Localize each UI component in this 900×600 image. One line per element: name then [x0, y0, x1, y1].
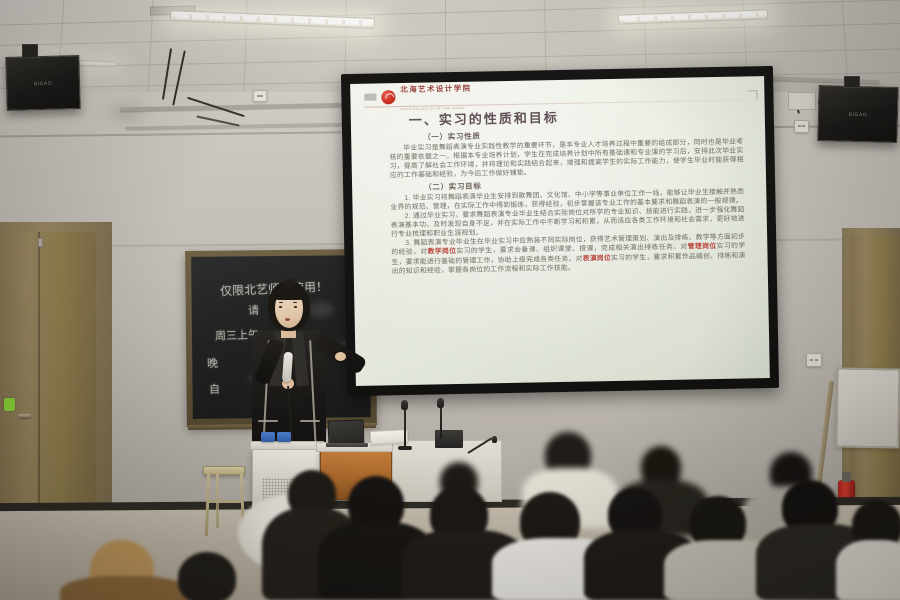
- whiteboard-right: [835, 367, 900, 448]
- door-left-sticker: [4, 398, 15, 411]
- slide-header-chip: [364, 94, 376, 101]
- presenter-pocket-left: [258, 420, 278, 422]
- door-left[interactable]: [0, 232, 96, 522]
- projection-screen: 北海艺术设计学院 BEIHAI COLLEGE OF ART AND DESIG…: [350, 76, 770, 386]
- audience-shoulders-12: [836, 540, 900, 600]
- presentation-slide: 北海艺术设计学院 BEIHAI COLLEGE OF ART AND DESIG…: [350, 76, 770, 386]
- laptop-screen[interactable]: [328, 419, 365, 445]
- blackboard-line-4: 晚: [207, 355, 218, 371]
- speaker-left-label: BIGAO: [34, 81, 52, 87]
- wall-junction-box: [788, 92, 816, 110]
- desk-microphone-head-2: [437, 398, 444, 408]
- wall-outlet-2[interactable]: [794, 120, 809, 133]
- presenter-eye-right: [294, 306, 297, 308]
- blackboard-line-2: 请: [248, 302, 260, 318]
- gooseneck-microphone-head: [492, 436, 497, 443]
- p4-highlight-management-post: 管理岗位: [688, 243, 717, 251]
- presenter-mouth: [285, 318, 290, 321]
- slide-logo-text: 北海艺术设计学院 BEIHAI COLLEGE OF ART AND DESIG…: [400, 77, 472, 114]
- wall-speaker-right: BIGAO: [817, 85, 898, 143]
- wall-speaker-left: BIGAO: [5, 55, 80, 111]
- presenter-hand-right: [335, 352, 346, 361]
- door-left-closer: [38, 238, 43, 247]
- p4-highlight-teaching-post: 教学岗位: [427, 248, 456, 256]
- institution-name-cn: 北海艺术设计学院: [400, 83, 471, 93]
- blackboard-line-5: 自: [209, 381, 220, 397]
- presenter-pocket-right: [300, 420, 320, 422]
- podium-top: [250, 441, 324, 450]
- speaker-right-label: BIGAO: [849, 112, 867, 118]
- desk-microphone-base-1: [398, 446, 412, 450]
- desk-microphone-pole-2: [440, 408, 442, 438]
- desk-microphone-pole-1: [404, 410, 406, 448]
- red-swirl-logo-icon: [381, 90, 395, 104]
- blue-item-2[interactable]: [277, 432, 291, 442]
- stool-crossbar: [206, 500, 244, 503]
- audience-head-14: [178, 552, 236, 600]
- wall-outlet-1[interactable]: [253, 90, 267, 102]
- slide-paragraph-4: 3. 舞蹈表演专业毕业生在毕业实习中应熟装不同实际岗位，获得艺术管理策划、演出及…: [367, 233, 752, 277]
- slide-corner-mark: [748, 90, 757, 99]
- light-switch[interactable]: [806, 353, 822, 367]
- institution-name-en: BEIHAI COLLEGE OF ART AND DESIGN: [401, 106, 465, 110]
- fire-extinguisher-valve: [842, 472, 851, 482]
- audience-shoulders-13: [60, 576, 190, 600]
- slide-paragraph-1: 毕业实习是舞蹈表演专业实践性教学的重要环节，是本专业人才培养过程中重要的组成部分…: [365, 137, 750, 181]
- speaker-right-mount: [844, 76, 860, 88]
- speaker-left-mount: [22, 44, 38, 58]
- p4-highlight-performance-post: 表演岗位: [583, 255, 611, 263]
- presenter-eye-left: [279, 306, 282, 308]
- lecture-hall-photo: BIGAO BIGAO 仅限北艺师生使用！ 请 周三上午 晚 自: [0, 0, 900, 600]
- paper-stack: [370, 429, 409, 445]
- presenter-hair-bun: [283, 279, 296, 289]
- door-left-handle[interactable]: [18, 414, 31, 418]
- laptop-base: [326, 443, 368, 447]
- blue-item-1[interactable]: [261, 432, 275, 442]
- desk-microphone-head-1: [401, 400, 408, 410]
